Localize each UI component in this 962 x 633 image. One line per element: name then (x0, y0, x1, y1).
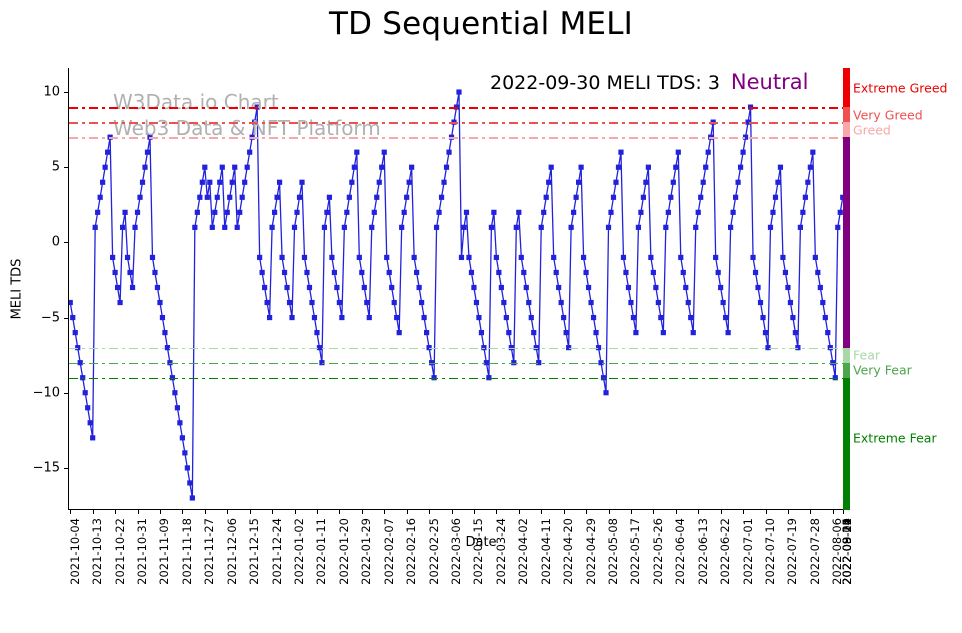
data-point-marker (140, 180, 145, 185)
data-point-marker (272, 210, 277, 215)
data-point-marker (466, 255, 471, 260)
data-point-marker (643, 180, 648, 185)
data-point-marker (805, 180, 810, 185)
data-point-marker (489, 225, 494, 230)
data-point-marker (329, 255, 334, 260)
data-point-marker (439, 195, 444, 200)
data-point-marker (673, 165, 678, 170)
data-point-marker (703, 165, 708, 170)
data-point-marker (671, 180, 676, 185)
zone-color-segment (843, 107, 850, 122)
data-point-marker (162, 330, 167, 335)
data-point-marker (69, 300, 73, 305)
data-point-marker (504, 315, 509, 320)
zone-label: Greed (853, 122, 891, 137)
data-point-marker (125, 255, 130, 260)
data-point-marker (551, 255, 556, 260)
x-tick-mark (833, 509, 834, 514)
x-tick-mark (227, 509, 228, 514)
data-point-marker (187, 480, 192, 485)
x-tick-label: 2022-02-25 (427, 518, 441, 585)
data-point-marker (586, 285, 591, 290)
data-point-marker (195, 210, 200, 215)
zone-label: Very Fear (853, 363, 912, 378)
data-point-marker (569, 225, 574, 230)
x-tick-label: 2022-05-26 (651, 518, 665, 585)
data-point-marker (783, 270, 788, 275)
data-point-marker (312, 315, 317, 320)
data-point-marker (369, 225, 374, 230)
data-point-marker (683, 285, 688, 290)
threshold-line (69, 378, 843, 380)
data-point-marker (574, 195, 579, 200)
data-point-marker (813, 255, 818, 260)
data-point-marker (417, 285, 422, 290)
plot-clip: W3Data.io Chart Web3 Data & NFT Platform (69, 68, 843, 509)
data-point-marker (212, 210, 217, 215)
x-tick-label: 2022-07-28 (808, 518, 822, 585)
data-point-marker (177, 420, 182, 425)
x-tick-label: 2021-11-27 (202, 518, 216, 585)
data-point-marker (603, 390, 608, 395)
data-point-marker (339, 315, 344, 320)
data-point-marker (302, 255, 307, 260)
data-point-marker (823, 315, 828, 320)
x-tick-mark (788, 509, 789, 514)
x-tick-label: 2021-10-13 (90, 518, 104, 585)
x-tick-mark (407, 509, 408, 514)
data-point-marker (571, 210, 576, 215)
data-point-marker (436, 210, 441, 215)
data-point-marker (815, 270, 820, 275)
data-point-marker (780, 255, 785, 260)
x-tick-label: 2021-11-09 (157, 518, 171, 585)
threshold-line (69, 122, 843, 124)
data-point-marker (626, 285, 631, 290)
threshold-line (69, 348, 843, 350)
data-point-marker (716, 270, 721, 275)
data-point-marker (631, 315, 636, 320)
data-point-marker (613, 180, 618, 185)
data-point-marker (444, 165, 449, 170)
data-point-marker (479, 330, 484, 335)
data-point-marker (606, 225, 611, 230)
data-point-marker (424, 330, 429, 335)
data-point-marker (389, 285, 394, 290)
data-point-marker (197, 195, 202, 200)
data-point-marker (260, 270, 265, 275)
x-tick-mark (339, 509, 340, 514)
data-point-marker (810, 150, 815, 155)
data-point-marker (235, 225, 240, 230)
data-point-marker (546, 180, 551, 185)
data-point-marker (561, 315, 566, 320)
data-point-marker (110, 255, 115, 260)
x-tick-mark (272, 509, 273, 514)
data-point-marker (200, 180, 205, 185)
data-point-marker (157, 300, 162, 305)
data-point-marker (740, 150, 745, 155)
data-point-marker (735, 180, 740, 185)
x-tick-mark (676, 509, 677, 514)
data-point-marker (299, 180, 304, 185)
x-tick-mark (429, 509, 430, 514)
data-point-marker (633, 330, 638, 335)
data-point-marker (182, 450, 187, 455)
data-point-marker (269, 225, 274, 230)
data-point-marker (150, 255, 155, 260)
data-point-marker (763, 330, 768, 335)
data-point-marker (529, 315, 534, 320)
data-point-marker (688, 315, 693, 320)
data-point-marker (349, 180, 354, 185)
data-point-marker (646, 165, 651, 170)
data-point-marker (227, 195, 232, 200)
data-point-marker (790, 315, 795, 320)
data-point-marker (372, 210, 377, 215)
data-point-marker (733, 195, 738, 200)
data-point-marker (387, 270, 392, 275)
data-point-marker (461, 225, 466, 230)
threshold-line (69, 107, 843, 109)
data-point-marker (785, 285, 790, 290)
data-point-marker (514, 225, 519, 230)
data-point-marker (357, 255, 362, 260)
y-tick-mark (64, 242, 69, 243)
data-point-marker (412, 255, 417, 260)
data-point-marker (274, 195, 279, 200)
threshold-line (69, 137, 843, 139)
x-tick-label: 2022-01-20 (337, 518, 351, 585)
data-point-marker (242, 180, 247, 185)
data-point-marker (539, 225, 544, 230)
x-tick-label: 2022-06-22 (718, 518, 732, 585)
data-point-marker (760, 315, 765, 320)
data-point-marker (676, 150, 681, 155)
data-point-marker (364, 300, 369, 305)
x-tick-mark (70, 509, 71, 514)
data-point-marker (666, 210, 671, 215)
x-tick-label: 2022-06-13 (696, 518, 710, 585)
data-point-marker (422, 315, 427, 320)
data-point-marker (277, 180, 282, 185)
data-point-marker (402, 210, 407, 215)
x-tick-label: 2022-02-16 (404, 518, 418, 585)
x-tick-label: 2022-07-19 (785, 518, 799, 585)
zone-label: Extreme Greed (853, 81, 947, 96)
data-point-marker (459, 255, 464, 260)
watermark-line-1: W3Data.io Chart (113, 90, 279, 114)
data-point-marker (521, 270, 526, 275)
data-point-marker (593, 330, 598, 335)
data-point-marker (344, 210, 349, 215)
data-point-marker (583, 270, 588, 275)
data-point-marker (377, 180, 382, 185)
data-point-marker (137, 195, 142, 200)
x-tick-label: 2021-10-04 (68, 518, 82, 585)
data-point-marker (352, 165, 357, 170)
x-tick-mark (317, 509, 318, 514)
y-tick-mark (64, 318, 69, 319)
data-point-marker (623, 270, 628, 275)
data-point-marker (668, 195, 673, 200)
data-point-marker (663, 225, 668, 230)
data-point-marker (279, 255, 284, 260)
x-tick-mark (138, 509, 139, 514)
data-point-marker (648, 255, 653, 260)
data-point-marker (693, 225, 698, 230)
data-point-marker (788, 300, 793, 305)
data-point-marker (564, 330, 569, 335)
data-point-marker (775, 180, 780, 185)
data-point-marker (698, 195, 703, 200)
data-point-marker (496, 270, 501, 275)
data-point-marker (726, 330, 731, 335)
data-point-marker (808, 165, 813, 170)
x-tick-label: 2021-12-24 (270, 518, 284, 585)
x-tick-label: 2022-01-11 (314, 518, 328, 585)
data-point-marker (691, 330, 696, 335)
x-tick-mark (721, 509, 722, 514)
data-point-marker (384, 255, 389, 260)
data-point-marker (728, 225, 733, 230)
x-tick-label: 2021-10-22 (113, 518, 127, 585)
data-point-marker (342, 225, 347, 230)
data-point-marker (494, 255, 499, 260)
x-tick-mark (295, 509, 296, 514)
data-point-marker (262, 285, 267, 290)
data-point-marker (554, 270, 559, 275)
data-point-marker (245, 165, 250, 170)
data-point-marker (803, 195, 808, 200)
data-point-marker (409, 165, 414, 170)
y-tick-mark (64, 468, 69, 469)
data-point-marker (83, 390, 88, 395)
zone-color-segment (843, 137, 850, 347)
data-point-marker (441, 180, 446, 185)
data-point-marker (294, 210, 299, 215)
data-point-marker (100, 180, 105, 185)
data-point-marker (434, 225, 439, 230)
data-point-marker (185, 465, 190, 470)
data-point-marker (155, 285, 160, 290)
data-point-marker (506, 330, 511, 335)
x-tick-mark (250, 509, 251, 514)
data-point-marker (638, 210, 643, 215)
data-point-marker (374, 195, 379, 200)
data-point-marker (723, 315, 728, 320)
data-point-marker (713, 255, 718, 260)
data-point-marker (768, 225, 773, 230)
data-point-marker (307, 285, 312, 290)
x-tick-label: 2022-04-29 (584, 518, 598, 585)
data-point-marker (180, 435, 185, 440)
data-point-marker (257, 255, 262, 260)
data-point-marker (359, 270, 364, 275)
data-point-marker (132, 225, 137, 230)
data-point-marker (541, 210, 546, 215)
y-tick-mark (64, 92, 69, 93)
data-point-marker (289, 315, 294, 320)
data-point-marker (446, 150, 451, 155)
data-point-marker (825, 330, 830, 335)
zone-color-segment (843, 68, 850, 107)
data-point-marker (332, 270, 337, 275)
data-point-marker (526, 300, 531, 305)
data-point-marker (70, 315, 75, 320)
x-tick-mark (698, 509, 699, 514)
x-axis-label: Date (465, 535, 496, 550)
data-point-marker (491, 210, 496, 215)
x-tick-label: 2021-12-15 (247, 518, 261, 585)
data-point-marker (145, 150, 150, 155)
data-point-marker (701, 180, 706, 185)
data-point-marker (142, 165, 147, 170)
data-point-marker (210, 225, 215, 230)
x-tick-label: 2022-01-29 (359, 518, 373, 585)
plot-area: W3Data.io Chart Web3 Data & NFT Platform… (68, 68, 843, 510)
data-point-marker (471, 285, 476, 290)
x-tick-mark (631, 509, 632, 514)
zone-label: Very Greed (853, 107, 923, 122)
x-tick-label: 2021-10-31 (135, 518, 149, 585)
data-point-marker (755, 285, 760, 290)
data-point-marker (322, 225, 327, 230)
data-point-marker (220, 165, 225, 170)
data-point-marker (591, 315, 596, 320)
data-point-marker (225, 210, 230, 215)
data-point-marker (721, 300, 726, 305)
data-point-marker (207, 180, 212, 185)
x-tick-mark (205, 509, 206, 514)
zone-label: Fear (853, 348, 880, 363)
data-point-marker (284, 285, 289, 290)
data-point-marker (172, 390, 177, 395)
data-point-marker (770, 210, 775, 215)
data-point-marker (354, 150, 359, 155)
x-tick-mark (160, 509, 161, 514)
y-tick-mark (64, 393, 69, 394)
data-point-marker (327, 195, 332, 200)
data-point-marker (217, 180, 222, 185)
data-point-marker (581, 255, 586, 260)
data-point-marker (230, 180, 235, 185)
data-point-marker (382, 150, 387, 155)
data-point-marker (95, 210, 100, 215)
data-point-marker (115, 285, 120, 290)
x-tick-mark (115, 509, 116, 514)
data-point-marker (456, 89, 461, 94)
x-tick-mark (743, 509, 744, 514)
data-point-marker (738, 165, 743, 170)
x-tick-label: 2021-12-06 (225, 518, 239, 585)
data-point-marker (367, 315, 372, 320)
data-point-marker (706, 150, 711, 155)
data-point-marker (237, 210, 242, 215)
data-point-marker (265, 300, 270, 305)
data-point-marker (297, 195, 302, 200)
data-point-marker (362, 285, 367, 290)
data-point-marker (414, 270, 419, 275)
data-point-marker (750, 255, 755, 260)
x-tick-mark (810, 509, 811, 514)
data-point-marker (127, 270, 132, 275)
data-point-marker (636, 225, 641, 230)
x-tick-mark (564, 509, 565, 514)
x-tick-label: 2022-09-29 (840, 518, 854, 585)
data-point-marker (347, 195, 352, 200)
data-point-marker (247, 150, 252, 155)
data-point-marker (773, 195, 778, 200)
data-point-marker (611, 195, 616, 200)
data-point-marker (98, 195, 103, 200)
x-tick-label: 2022-02-07 (382, 518, 396, 585)
data-point-marker (407, 180, 412, 185)
x-tick-label: 2022-06-04 (673, 518, 687, 585)
x-tick-mark (519, 509, 520, 514)
x-tick-label: 2022-05-17 (628, 518, 642, 585)
data-point-marker (93, 225, 98, 230)
x-tick-label: 2022-03-24 (494, 518, 508, 585)
data-point-marker (501, 300, 506, 305)
x-tick-mark (182, 509, 183, 514)
data-point-marker (621, 255, 626, 260)
data-point-marker (731, 210, 736, 215)
data-point-marker (120, 225, 125, 230)
data-point-marker (544, 195, 549, 200)
data-point-marker (399, 225, 404, 230)
data-point-marker (304, 270, 309, 275)
data-point-marker (292, 225, 297, 230)
data-point-marker (379, 165, 384, 170)
x-tick-label: 2022-04-02 (516, 518, 530, 585)
data-point-marker (820, 300, 825, 305)
zone-color-bar (843, 68, 850, 510)
x-tick-mark (452, 509, 453, 514)
data-point-marker (85, 405, 90, 410)
x-tick-label: 2022-04-20 (561, 518, 575, 585)
data-point-marker (130, 285, 135, 290)
x-tick-label: 2022-07-01 (741, 518, 755, 585)
data-point-marker (117, 300, 122, 305)
data-point-marker (499, 285, 504, 290)
data-point-marker (608, 210, 613, 215)
data-point-marker (681, 270, 686, 275)
data-point-marker (753, 270, 758, 275)
data-point-marker (419, 300, 424, 305)
data-point-marker (404, 195, 409, 200)
data-point-marker (464, 210, 469, 215)
data-point-marker (202, 165, 207, 170)
data-point-marker (778, 165, 783, 170)
chart-title: TD Sequential MELI (0, 6, 962, 42)
x-tick-mark (93, 509, 94, 514)
data-point-marker (628, 300, 633, 305)
data-point-marker (282, 270, 287, 275)
data-point-marker (324, 210, 329, 215)
zone-label: Extreme Fear (853, 430, 937, 445)
threshold-line (69, 363, 843, 365)
data-point-marker (616, 165, 621, 170)
data-point-marker (397, 330, 402, 335)
x-tick-mark (586, 509, 587, 514)
x-tick-label: 2022-05-08 (606, 518, 620, 585)
data-point-marker (334, 285, 339, 290)
data-point-marker (190, 495, 195, 500)
x-tick-mark (474, 509, 475, 514)
y-axis-label: MELI TDS (10, 258, 25, 319)
data-point-marker (800, 210, 805, 215)
